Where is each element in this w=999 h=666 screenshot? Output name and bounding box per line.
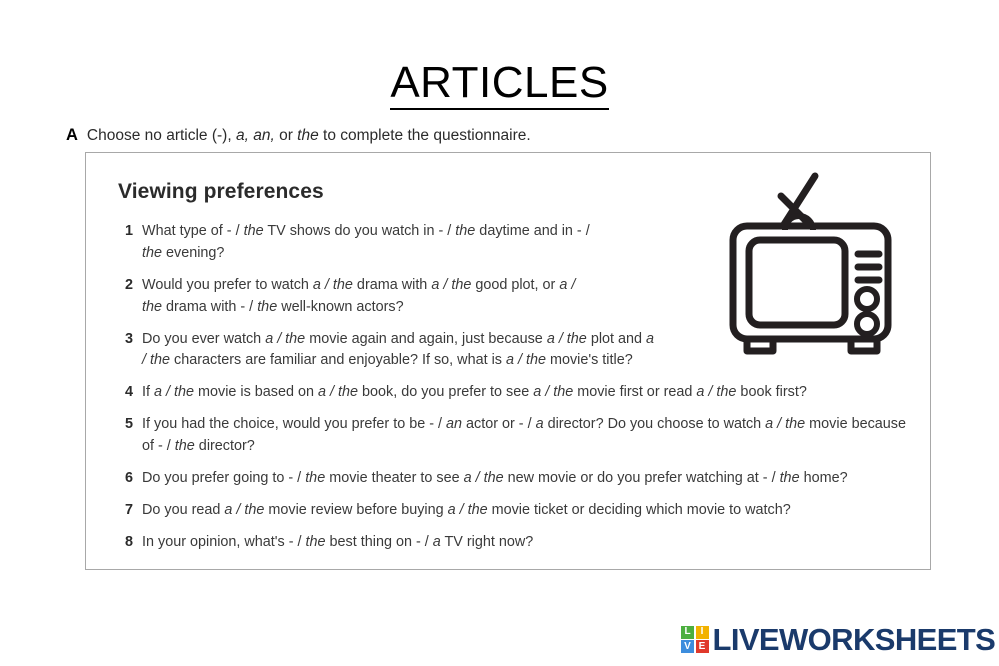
question-number: 6 (111, 468, 142, 490)
question-segment: In your opinion, what's - / (142, 534, 306, 550)
logo-tile-v: V (681, 640, 694, 653)
question-segment: Do you ever watch (142, 331, 265, 347)
question-segment: plot and (587, 331, 646, 347)
question-segment-italic: the (142, 245, 162, 261)
question-number: 2 (111, 275, 142, 297)
question-item: 6 Do you prefer going to - / the movie t… (111, 468, 911, 490)
question-text: What type of - / the TV shows do you wat… (142, 221, 597, 265)
question-segment: home? (800, 470, 848, 486)
question-list: 1 What type of - / the TV shows do you w… (111, 221, 911, 564)
question-segment-italic: a / the (696, 384, 736, 400)
question-segment: director? (195, 438, 255, 454)
question-segment-italic: a / the (765, 416, 805, 432)
question-segment-italic: a / the (431, 277, 471, 293)
question-segment: Do you prefer going to - / (142, 470, 305, 486)
question-text: Would you prefer to watch a / the drama … (142, 275, 597, 319)
page-title: ARTICLES (0, 58, 999, 110)
question-segment: good plot, or (471, 277, 559, 293)
question-segment: movie review before buying (264, 502, 447, 518)
question-segment-italic: a / the (448, 502, 488, 518)
question-segment: book first? (736, 384, 806, 400)
question-segment-italic: a / the (547, 331, 587, 347)
question-text: Do you prefer going to - / the movie the… (142, 468, 911, 490)
instruction-line: AChoose no article (-), a, an, or the to… (66, 126, 531, 145)
question-text: If a / the movie is based on a / the boo… (142, 382, 911, 404)
question-segment-italic: the (306, 534, 326, 550)
question-segment-italic: a / the (154, 384, 194, 400)
question-item: 2 Would you prefer to watch a / the dram… (111, 275, 911, 319)
logo-tile-i: I (696, 626, 709, 639)
question-segment: movie theater to see (325, 470, 463, 486)
question-segment: Do you read (142, 502, 224, 518)
question-segment-italic: a (433, 534, 441, 550)
question-number: 1 (111, 221, 142, 243)
question-segment-italic: the (305, 470, 325, 486)
question-segment: If (142, 384, 154, 400)
question-segment: book, do you prefer to see (358, 384, 533, 400)
question-segment: drama with - / (162, 299, 257, 315)
logo-tiles: L I V E (681, 626, 709, 654)
question-segment-italic: a / the (464, 470, 504, 486)
question-item: 7 Do you read a / the movie review befor… (111, 500, 911, 522)
question-item: 1 What type of - / the TV shows do you w… (111, 221, 911, 265)
liveworksheets-logo[interactable]: L I V E LIVEWORKSHEETS (681, 624, 995, 655)
question-item: 4 If a / the movie is based on a / the b… (111, 382, 911, 404)
question-number: 4 (111, 382, 142, 404)
logo-tile-e: E (696, 640, 709, 653)
question-segment-italic: the (175, 438, 195, 454)
question-segment: new movie or do you prefer watching at -… (504, 470, 780, 486)
question-segment: Would you prefer to watch (142, 277, 313, 293)
question-text: Do you ever watch a / the movie again an… (142, 329, 662, 373)
question-segment: movie again and again, just because (305, 331, 547, 347)
question-segment-italic: an (446, 416, 462, 432)
question-item: 5 If you had the choice, would you prefe… (111, 414, 911, 458)
question-segment-italic: a / the (533, 384, 573, 400)
instruction-part-4: to complete the questionnaire. (319, 127, 531, 144)
question-segment: TV right now? (441, 534, 534, 550)
question-segment: movie's title? (546, 352, 633, 368)
task-letter: A (66, 126, 78, 144)
question-segment: drama with (353, 277, 431, 293)
question-segment: actor or - / (462, 416, 536, 432)
question-text: Do you read a / the movie review before … (142, 500, 911, 522)
worksheet-panel: Viewing preferences 1 (85, 152, 931, 570)
instruction-italic-the: the (297, 127, 319, 144)
question-text: If you had the choice, would you prefer … (142, 414, 911, 458)
logo-tile-l: L (681, 626, 694, 639)
question-segment-italic: a / the (265, 331, 305, 347)
question-segment: movie first or read (573, 384, 696, 400)
question-segment: daytime and in - / (475, 223, 589, 239)
question-item: 3 Do you ever watch a / the movie again … (111, 329, 911, 373)
instruction-part-1: Choose no article (-), (87, 127, 236, 144)
question-segment-italic: the (455, 223, 475, 239)
question-segment: director? Do you choose to watch (544, 416, 766, 432)
instruction-italic-a: a, (236, 127, 249, 144)
question-segment-italic: a / the (318, 384, 358, 400)
instruction-part-3: or (275, 127, 297, 144)
question-segment-italic: a (536, 416, 544, 432)
question-segment: TV shows do you watch in - / (264, 223, 456, 239)
panel-heading: Viewing preferences (118, 180, 324, 204)
question-segment-italic: the (244, 223, 264, 239)
logo-wordmark: LIVEWORKSHEETS (713, 624, 996, 655)
question-segment-italic: the (780, 470, 800, 486)
question-segment-italic: a / the (313, 277, 353, 293)
question-segment-italic: a / the (224, 502, 264, 518)
page-title-text: ARTICLES (390, 60, 608, 110)
question-segment: What type of - / (142, 223, 244, 239)
question-segment: evening? (162, 245, 224, 261)
question-number: 5 (111, 414, 142, 436)
question-item: 8 In your opinion, what's - / the best t… (111, 532, 911, 554)
question-segment: best thing on - / (326, 534, 433, 550)
question-segment-italic: a / the (506, 352, 546, 368)
question-text: In your opinion, what's - / the best thi… (142, 532, 911, 554)
question-segment: If you had the choice, would you prefer … (142, 416, 446, 432)
question-segment-italic: the (257, 299, 277, 315)
question-number: 3 (111, 329, 142, 351)
question-segment: movie is based on (194, 384, 318, 400)
question-number: 8 (111, 532, 142, 554)
instruction-italic-an: an, (253, 127, 275, 144)
question-segment: characters are familiar and enjoyable? I… (170, 352, 506, 368)
question-segment: movie ticket or deciding which movie to … (488, 502, 791, 518)
question-number: 7 (111, 500, 142, 522)
question-segment: well-known actors? (277, 299, 403, 315)
